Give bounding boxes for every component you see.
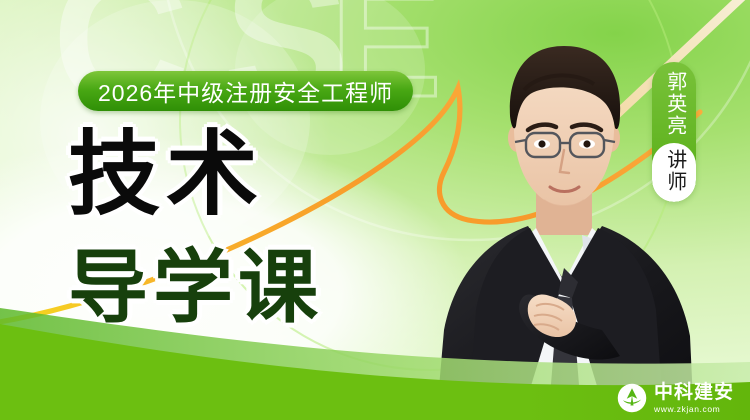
page-title: 技术 — [68, 129, 264, 221]
brand-logo: 中科建安 www.zkjan.com — [617, 383, 734, 414]
brand-logo-icon — [617, 383, 647, 413]
instructor-role: 讲师 — [662, 149, 686, 193]
brand-url: www.zkjan.com — [654, 405, 734, 414]
course-banner: CS E 2026年中级注册安全工程师 技术 — [0, 0, 750, 420]
instructor-role-container: 讲师 — [652, 143, 696, 202]
course-badge: 2026年中级注册安全工程师 — [78, 71, 413, 111]
brand-logo-text: 中科建安 www.zkjan.com — [654, 383, 734, 414]
brand-name: 中科建安 — [654, 383, 734, 402]
instructor-name: 郭英亮 — [662, 62, 686, 143]
course-badge-label: 2026年中级注册安全工程师 — [98, 74, 393, 108]
instructor-badge: 郭英亮 讲师 — [652, 62, 696, 202]
